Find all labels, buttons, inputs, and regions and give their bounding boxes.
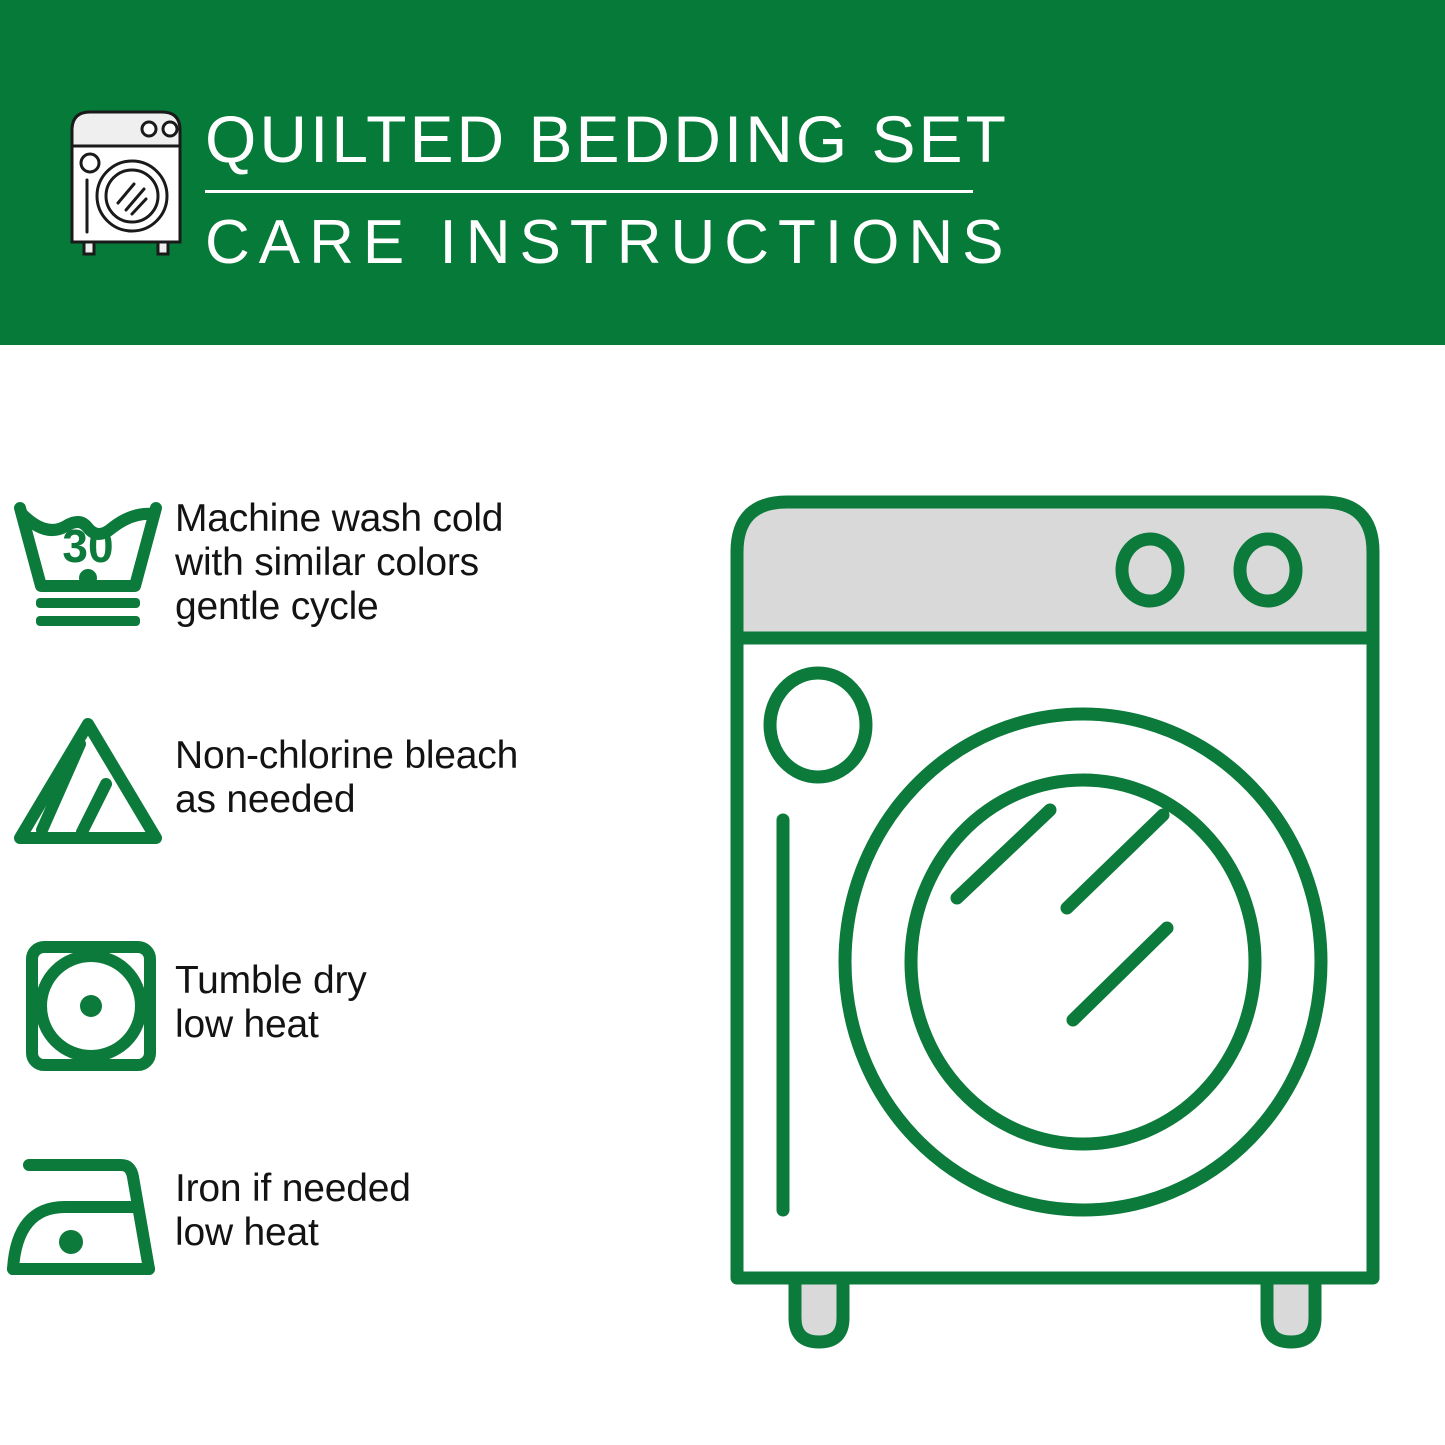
iron-icon [0, 1145, 175, 1285]
washing-machine-icon [62, 104, 190, 256]
care-instruction-text: Machine wash cold with similar colors ge… [175, 495, 503, 629]
header-band: QUILTED BEDDING SET CARE INSTRUCTIONS [0, 0, 1445, 345]
care-row: Tumble dry low heat [0, 935, 700, 1075]
washing-machine-illustration [705, 470, 1405, 1370]
care-row: Iron if needed low heat [0, 1145, 700, 1285]
care-instruction-text: Non-chlorine bleach as needed [175, 710, 518, 822]
leg-right [1267, 1278, 1315, 1342]
bleach-triangle-icon [0, 710, 175, 850]
dispenser-circle [770, 673, 866, 777]
page-title: QUILTED BEDDING SET [205, 100, 1005, 178]
svg-text:30: 30 [62, 520, 113, 572]
header-text-block: QUILTED BEDDING SET CARE INSTRUCTIONS [205, 100, 1005, 279]
care-row: Non-chlorine bleach as needed [0, 710, 700, 850]
page-subtitle: CARE INSTRUCTIONS [205, 207, 1005, 279]
care-instruction-text: Iron if needed low heat [175, 1145, 411, 1255]
tumble-dry-icon [0, 935, 175, 1075]
title-divider [205, 190, 973, 193]
knob-right [1240, 539, 1296, 601]
care-instructions-infographic: QUILTED BEDDING SET CARE INSTRUCTIONS 30 [0, 0, 1445, 1445]
leg-left [795, 1278, 843, 1342]
care-instruction-text: Tumble dry low heat [175, 935, 367, 1047]
knob-left [1122, 539, 1178, 601]
wash-tub-30-icon: 30 [0, 495, 175, 635]
door-inner-ring [911, 780, 1255, 1144]
care-row: 30 Machine wash cold with similar colors… [0, 495, 700, 635]
